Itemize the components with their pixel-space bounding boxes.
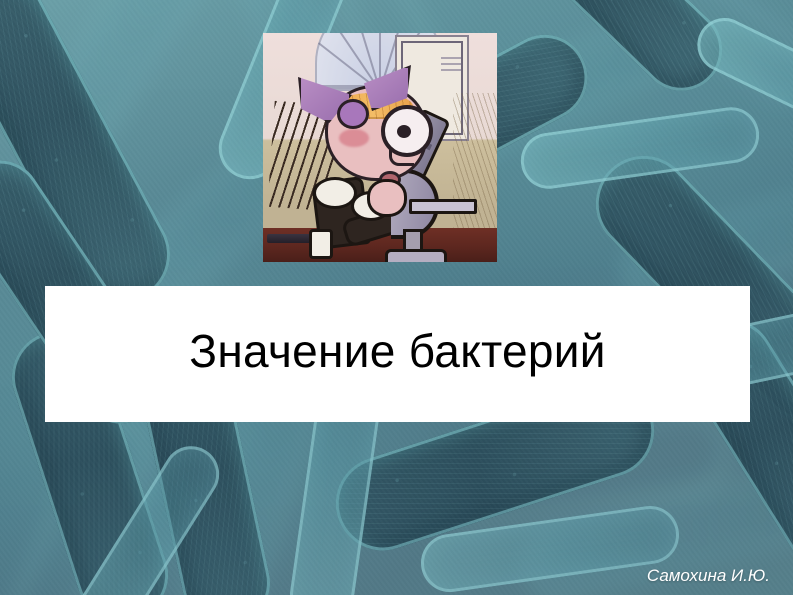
illustration-girl-cheek: [339, 129, 369, 147]
presentation-slide: Значение бактерий Самохина И.Ю.: [0, 0, 793, 595]
title-box: Значение бактерий: [45, 286, 750, 422]
author-signature: Самохина И.Ю.: [647, 566, 770, 586]
illustration-girl-hand: [367, 179, 407, 217]
illustration-microscope-base: [385, 249, 447, 262]
illustration-girl-nose: [389, 149, 414, 166]
illustration-microscope-stage: [409, 199, 477, 214]
illustration-cartoon-girl-with-microscope: [263, 33, 497, 262]
illustration-girl-sock: [309, 229, 333, 259]
illustration-girl-bow-knot: [337, 99, 369, 129]
slide-title: Значение бактерий: [189, 328, 606, 374]
